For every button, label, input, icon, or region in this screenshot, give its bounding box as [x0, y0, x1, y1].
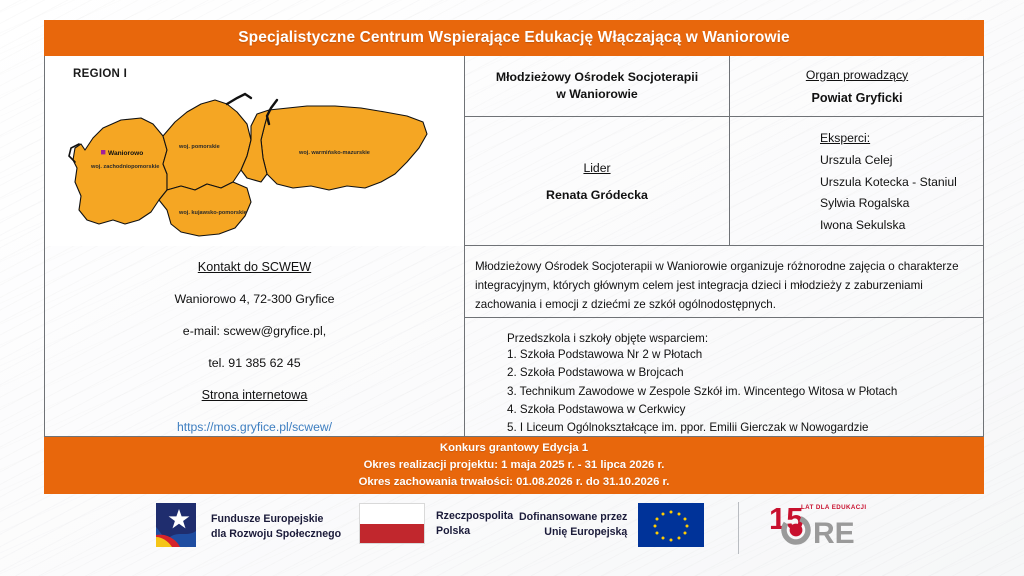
- school-item: 2. Szkoła Podstawowa w Brojcach: [507, 364, 974, 382]
- institution-name-line1: Młodzieżowy Ośrodek Socjoterapii: [496, 70, 698, 84]
- poland-label: Rzeczpospolita Polska: [436, 509, 513, 538]
- leader-heading: Lider: [583, 161, 610, 175]
- governing-body-value: Powiat Gryficki: [811, 91, 902, 105]
- experts-heading: Eksperci:: [820, 131, 984, 145]
- expert-name: Urszula Kotecka - Staniul: [820, 172, 984, 194]
- ore-logo: 15 LAT DLA EDUKACJI RE: [769, 499, 879, 549]
- band-line-2: Okres realizacji projektu: 1 maja 2025 r…: [364, 457, 665, 474]
- description-text: Młodzieżowy Ośrodek Socjoterapii w Wanio…: [475, 258, 970, 314]
- eu-flag-icon: [638, 503, 704, 547]
- eu-funds-icon: [150, 501, 202, 553]
- eu-funds-label: Fundusze Europejskie dla Rozwoju Społecz…: [211, 512, 341, 541]
- eu-cofunded-logo: Dofinansowane przez Unię Europejską: [519, 503, 704, 547]
- svg-text:woj. kujawsko-pomorskie: woj. kujawsko-pomorskie: [178, 210, 247, 216]
- school-item: 5. I Liceum Ogólnokształcące im. ppor. E…: [507, 419, 974, 437]
- schools-heading: Przedszkola i szkoły objęte wsparciem:: [507, 332, 974, 345]
- leader-value: Renata Gródecka: [546, 188, 648, 202]
- ore-icon: 15 LAT DLA EDUKACJI RE: [769, 499, 879, 549]
- governing-body-cell: Organ prowadzący Powiat Gryficki: [730, 56, 984, 116]
- poland-flag-icon: [359, 503, 425, 544]
- band-line-3: Okres zachowania trwałości: 01.08.2026 r…: [359, 474, 670, 491]
- info-table: REGION I: [44, 56, 984, 437]
- website-link[interactable]: https://mos.gryfice.pl/scwew/: [45, 420, 464, 434]
- school-item: 1. Szkoła Podstawowa Nr 2 w Płotach: [507, 346, 974, 364]
- svg-text:LAT DLA EDUKACJI: LAT DLA EDUKACJI: [801, 504, 867, 511]
- contact-cell: Kontakt do SCWEW Waniorowo 4, 72-300 Gry…: [45, 246, 464, 436]
- contact-email[interactable]: e-mail: scwew@gryfice.pl,: [45, 324, 464, 338]
- institution-cell: Młodzieżowy Ośrodek Socjoterapii w Wanio…: [465, 56, 729, 116]
- page-title-bar: Specjalistyczne Centrum Wspierające Eduk…: [44, 20, 984, 56]
- contact-heading: Kontakt do SCWEW: [45, 260, 464, 274]
- poland-logo: Rzeczpospolita Polska: [359, 503, 513, 544]
- expert-name: Sylwia Rogalska: [820, 193, 984, 215]
- description-cell: Młodzieżowy Ośrodek Socjoterapii w Wanio…: [465, 246, 984, 316]
- schools-cell: Przedszkola i szkoły objęte wsparciem: 1…: [465, 318, 984, 436]
- governing-body-heading: Organ prowadzący: [806, 68, 908, 82]
- experts-cell: Eksperci: Urszula Celej Urszula Kotecka …: [730, 117, 984, 245]
- expert-name: Urszula Celej: [820, 150, 984, 172]
- expert-name: Iwona Sekulska: [820, 215, 984, 237]
- project-period-band: Konkurs grantowy Edycja 1 Okres realizac…: [44, 437, 984, 494]
- leader-cell: Lider Renata Gródecka: [465, 117, 729, 245]
- contact-address: Waniorowo 4, 72-300 Gryfice: [45, 292, 464, 306]
- eu-cofunded-label: Dofinansowane przez Unię Europejską: [519, 510, 627, 539]
- page-title: Specjalistyczne Centrum Wspierające Eduk…: [238, 29, 790, 47]
- infographic-sheet: Specjalistyczne Centrum Wspierające Eduk…: [0, 0, 1024, 576]
- svg-text:woj. zachodniopomorskie: woj. zachodniopomorskie: [90, 164, 159, 170]
- institution-name: Młodzieżowy Ośrodek Socjoterapii w Wanio…: [496, 69, 698, 102]
- eu-funds-logo: Fundusze Europejskie dla Rozwoju Społecz…: [150, 501, 341, 553]
- svg-text:RE: RE: [813, 517, 855, 549]
- school-item: 3. Technikum Zawodowe w Zespole Szkół im…: [507, 383, 974, 401]
- map-cell: REGION I: [45, 56, 464, 246]
- school-item: 4. Szkoła Podstawowa w Cerkwicy: [507, 401, 974, 419]
- institution-name-line2: w Waniorowie: [556, 87, 638, 101]
- svg-text:Waniorowo: Waniorowo: [108, 150, 143, 157]
- logo-separator: [738, 502, 739, 554]
- contact-phone: tel. 91 385 62 45: [45, 356, 464, 370]
- svg-text:woj. warmińsko-mazurskie: woj. warmińsko-mazurskie: [298, 150, 370, 156]
- svg-text:woj. pomorskie: woj. pomorskie: [178, 144, 220, 150]
- band-line-1: Konkurs grantowy Edycja 1: [440, 440, 588, 457]
- poland-north-map: Waniorowo woj. zachodniopomorskie woj. p…: [55, 78, 455, 240]
- logo-strip: Fundusze Europejskie dla Rozwoju Społecz…: [0, 496, 1024, 576]
- website-heading: Strona internetowa: [45, 388, 464, 402]
